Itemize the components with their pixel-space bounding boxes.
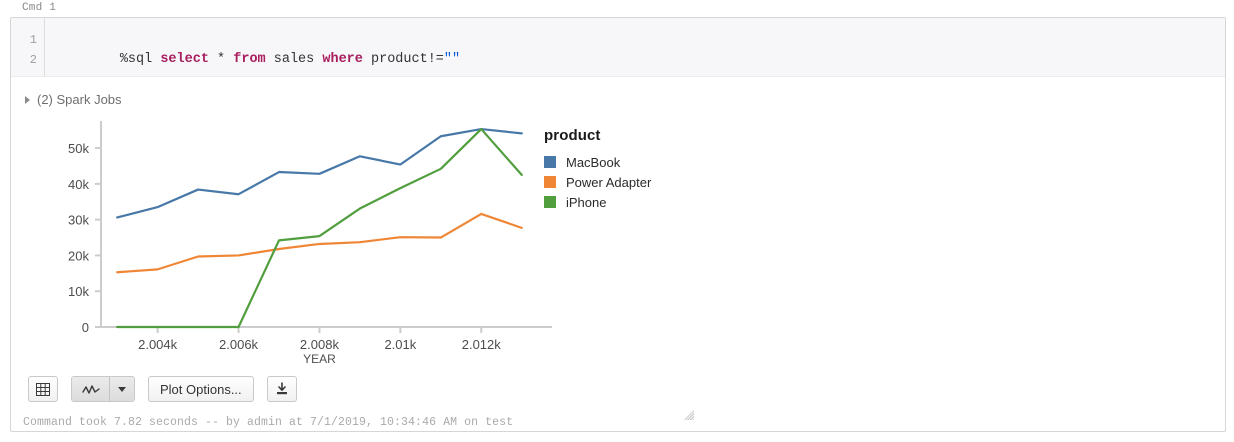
plot-options-label: Plot Options... — [149, 382, 253, 397]
table-view-button[interactable] — [28, 376, 58, 402]
legend-swatch-icon — [544, 176, 556, 188]
svg-text:YEAR: YEAR — [303, 352, 336, 365]
legend-item-macbook[interactable]: MacBook — [544, 152, 651, 172]
output-resize-handle[interactable] — [683, 408, 695, 420]
spark-jobs-label: (2) Spark Jobs — [37, 92, 122, 107]
chart-type-split-button[interactable] — [71, 376, 135, 402]
code-editor[interactable]: 1 2 %sql select * from sales where produ… — [11, 18, 1225, 77]
svg-text:2.012k: 2.012k — [462, 337, 502, 352]
legend-label: iPhone — [566, 195, 606, 210]
legend-title: product — [544, 127, 651, 144]
notebook-cell: 1 2 %sql select * from sales where produ… — [10, 17, 1226, 432]
code-token-table: sales — [266, 52, 323, 67]
svg-text:2.006k: 2.006k — [219, 337, 259, 352]
legend-label: Power Adapter — [566, 175, 651, 190]
svg-text:10k: 10k — [68, 284, 89, 299]
code-token-string: "" — [444, 52, 460, 67]
code-line-1: %sql select * from sales where product!=… — [55, 30, 460, 90]
line-number: 1 — [11, 30, 44, 50]
legend-item-iphone[interactable]: iPhone — [544, 192, 651, 212]
resize-grip-icon — [683, 409, 695, 421]
legend-swatch-icon — [544, 156, 556, 168]
chart-legend: product MacBook Power Adapter iPhone — [544, 127, 651, 212]
svg-text:2.004k: 2.004k — [138, 337, 178, 352]
plot-options-button[interactable]: Plot Options... — [148, 376, 254, 402]
line-number: 2 — [11, 50, 44, 70]
svg-text:0: 0 — [82, 320, 89, 335]
code-token-keyword-from: from — [233, 52, 265, 67]
chart-container: 010k20k30k40k50k2.004k2.006k2.008k2.01k2… — [11, 115, 731, 365]
svg-text:50k: 50k — [68, 141, 89, 156]
code-token-keyword-select: select — [160, 52, 209, 67]
svg-text:20k: 20k — [68, 248, 89, 263]
svg-text:2.01k: 2.01k — [384, 337, 416, 352]
svg-text:40k: 40k — [68, 177, 89, 192]
download-button[interactable] — [267, 376, 297, 402]
code-token-predicate: product!= — [363, 52, 444, 67]
spark-jobs-toggle[interactable]: (2) Spark Jobs — [25, 92, 122, 107]
code-token-magic: %sql — [120, 52, 161, 67]
chevron-down-icon — [118, 387, 126, 392]
download-icon — [275, 382, 289, 396]
legend-label: MacBook — [566, 155, 620, 170]
cmd-label: Cmd 1 — [22, 2, 56, 14]
result-toolbar: Plot Options... — [28, 376, 297, 402]
line-number-gutter: 1 2 — [11, 18, 45, 77]
chart-type-dropdown-button[interactable] — [109, 377, 134, 401]
svg-text:30k: 30k — [68, 213, 89, 228]
legend-swatch-icon — [544, 196, 556, 208]
command-status-text: Command took 7.82 seconds -- by admin at… — [23, 416, 513, 429]
code-content[interactable]: %sql select * from sales where product!=… — [55, 30, 460, 90]
svg-text:2.008k: 2.008k — [300, 337, 340, 352]
line-chart-icon — [82, 384, 100, 395]
table-grid-icon — [36, 383, 50, 396]
chart-view-button[interactable] — [72, 377, 109, 401]
triangle-right-icon[interactable] — [25, 96, 30, 104]
code-token-star: * — [209, 52, 233, 67]
legend-item-power-adapter[interactable]: Power Adapter — [544, 172, 651, 192]
code-token-keyword-where: where — [322, 52, 363, 67]
